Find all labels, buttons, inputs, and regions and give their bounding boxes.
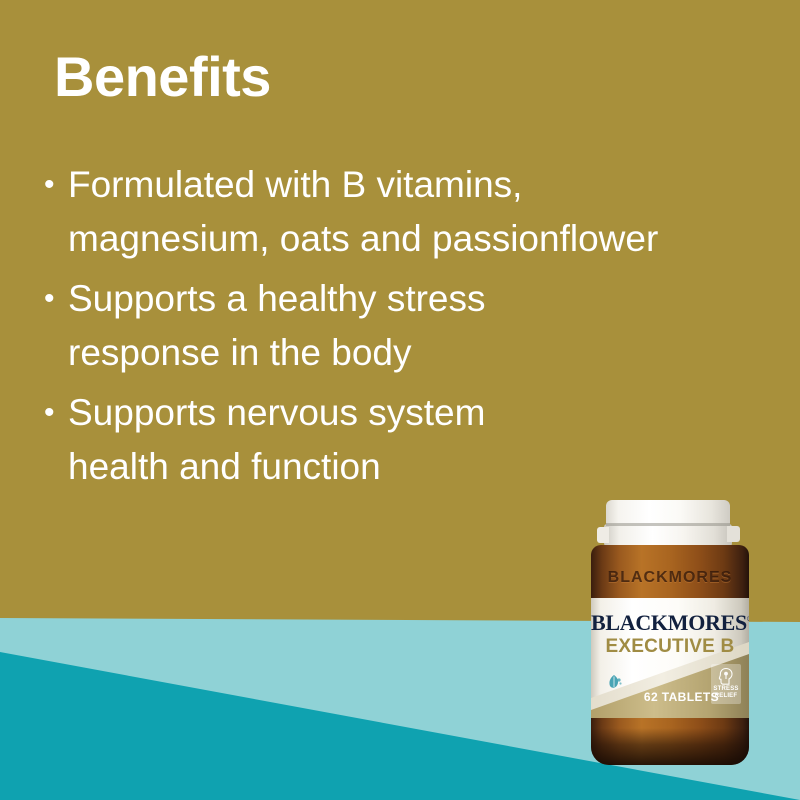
- benefit-text: Supports a healthy stress response in th…: [68, 272, 628, 380]
- list-item: • Formulated with B vitamins, magnesium,…: [44, 158, 704, 266]
- brand-name-text: BLACKMORES: [591, 610, 747, 635]
- bullet-point-icon: •: [44, 272, 68, 326]
- product-label: BLACKMORES® EXECUTIVE B 62 TABLETS: [591, 598, 749, 718]
- list-item: • Supports nervous system health and fun…: [44, 386, 704, 494]
- status-badge: STRESS RELIEF: [711, 664, 741, 704]
- benefits-list: • Formulated with B vitamins, magnesium,…: [44, 158, 704, 500]
- tablet-count: 62 TABLETS: [591, 690, 719, 704]
- bottle-bottom-shadow: [591, 728, 749, 765]
- product-bottle-image: BLACKMORES BLACKMORES® EXECUTIVE B 62 TA…: [585, 500, 755, 768]
- benefit-text: Supports nervous system health and funct…: [68, 386, 488, 494]
- product-benefits-banner: Benefits • Formulated with B vitamins, m…: [0, 0, 800, 800]
- cap-tab-right: [727, 526, 740, 542]
- bullet-point-icon: •: [44, 158, 68, 212]
- benefit-text: Formulated with B vitamins, magnesium, o…: [68, 158, 688, 266]
- badge-label-line2: RELIEF: [711, 693, 741, 700]
- list-item: • Supports a healthy stress response in …: [44, 272, 704, 380]
- cap-tab-left: [597, 527, 609, 543]
- registered-trademark-icon: ®: [747, 615, 749, 624]
- page-title: Benefits: [54, 48, 271, 107]
- head-profile-icon: [718, 667, 734, 686]
- embossed-brand-text: BLACKMORES: [603, 568, 737, 588]
- badge-label-line1: STRESS: [711, 686, 741, 693]
- brand-name: BLACKMORES®: [591, 610, 749, 636]
- badge-label: STRESS RELIEF: [711, 686, 741, 700]
- product-name: EXECUTIVE B: [591, 636, 749, 658]
- cap-seam: [606, 523, 730, 526]
- bullet-point-icon: •: [44, 386, 68, 440]
